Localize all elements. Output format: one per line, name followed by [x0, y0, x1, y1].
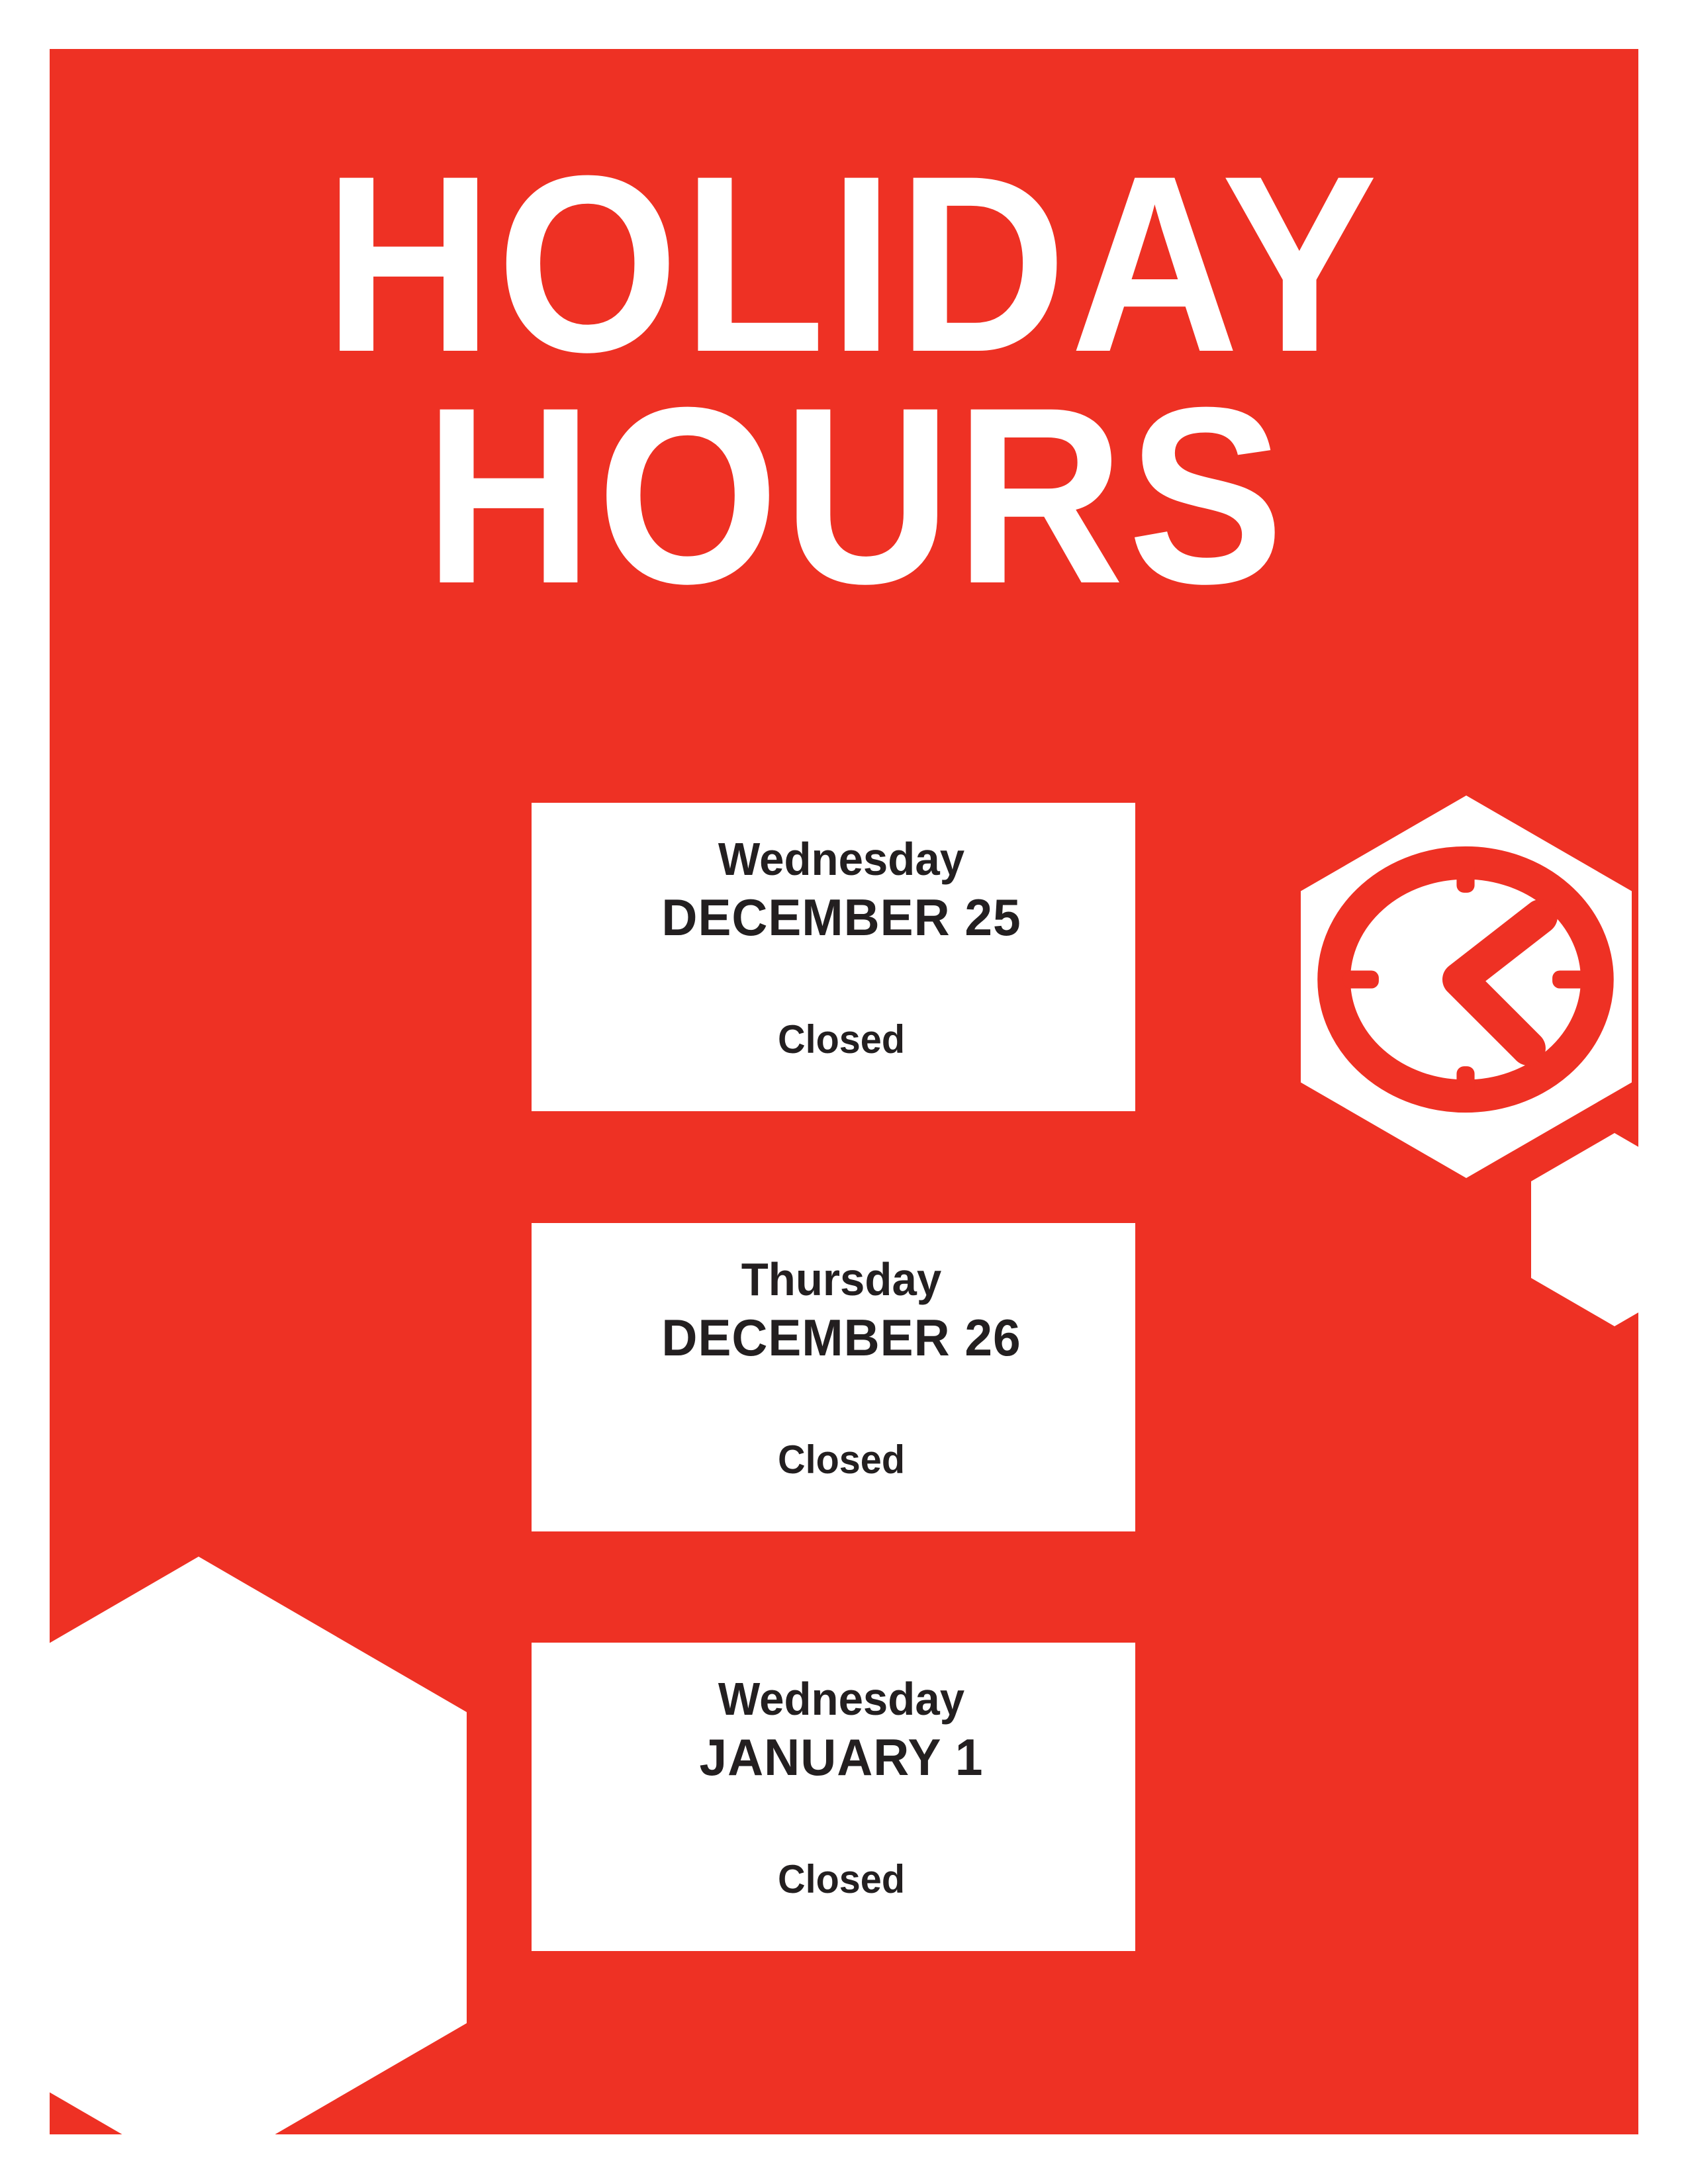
schedule-list: Wednesday DECEMBER 25 Closed Thursday DE…: [50, 49, 1638, 2134]
holiday-hours-poster: HOLIDAY HOURS Wednesday DECEMBER 25 Clos…: [50, 49, 1638, 2134]
schedule-hours: Closed: [559, 1440, 1123, 1480]
schedule-date: DECEMBER 26: [559, 1305, 1123, 1371]
schedule-day: Wednesday: [559, 1673, 1123, 1725]
schedule-date: DECEMBER 25: [559, 885, 1123, 951]
schedule-date: JANUARY 1: [559, 1725, 1123, 1791]
schedule-day: Thursday: [559, 1253, 1123, 1305]
schedule-card: Wednesday DECEMBER 25 Closed: [532, 803, 1135, 1111]
schedule-hours: Closed: [559, 1860, 1123, 1899]
schedule-card: Thursday DECEMBER 26 Closed: [532, 1223, 1135, 1531]
schedule-hours: Closed: [559, 1020, 1123, 1060]
schedule-card: Wednesday JANUARY 1 Closed: [532, 1643, 1135, 1951]
schedule-day: Wednesday: [559, 833, 1123, 885]
